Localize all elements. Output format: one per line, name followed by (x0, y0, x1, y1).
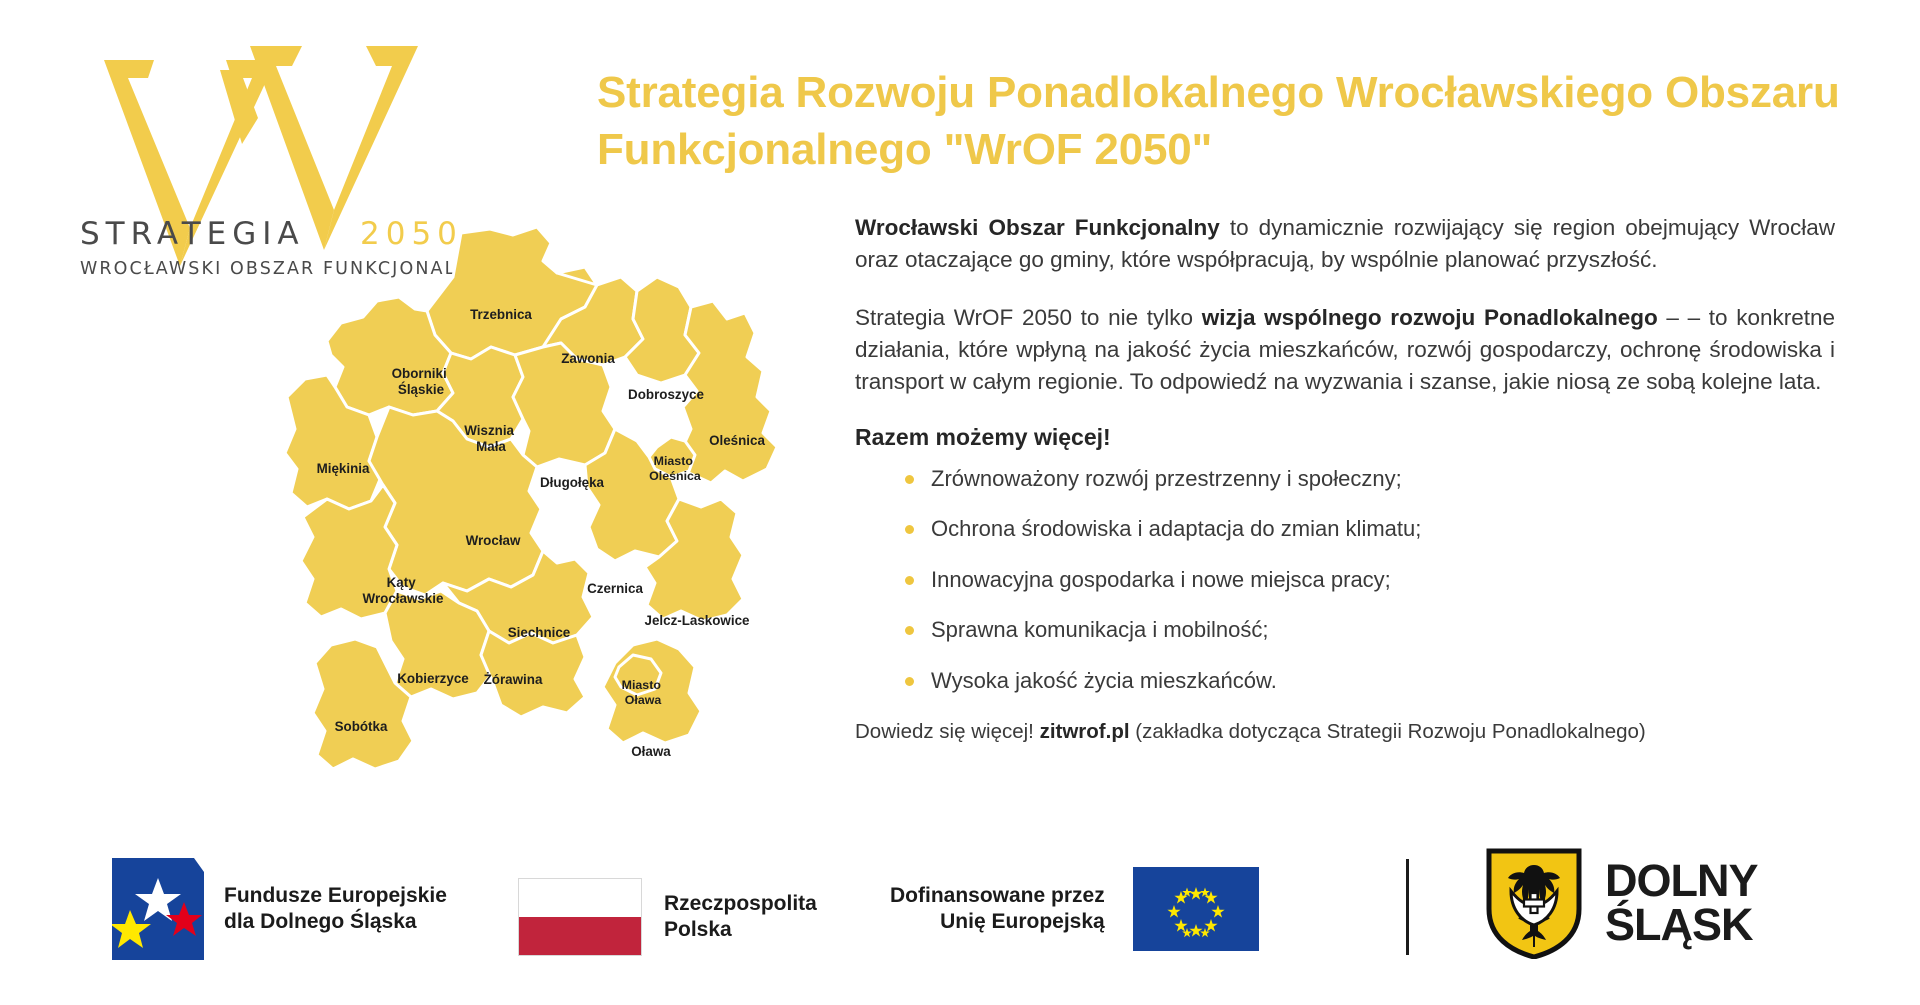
more-info-suffix: (zakładka dotycząca Strategii Rozwoju Po… (1130, 720, 1646, 743)
map-label-miasto-olawa: Miasto Oława (622, 678, 665, 707)
map-label-zorawina: Żórawina (484, 672, 543, 687)
map-label-dlugoleka: Długołęka (540, 475, 605, 490)
poland-caption: Rzeczpospolita Polska (664, 891, 817, 942)
intro-paragraph: Wrocławski Obszar Funkcjonalny to dynami… (855, 212, 1835, 276)
list-item: Innowacyjna gospodarka i nowe miejsca pr… (905, 566, 1835, 595)
european-union-flag-icon (1133, 867, 1259, 951)
map-label-oborniki-slaskie: Oborniki Śląskie (392, 366, 451, 397)
map-label-miekinia: Miękinia (317, 461, 370, 476)
map-label-miasto-olesnica: Miasto Oleśnica (649, 454, 701, 483)
polish-flag-icon (518, 878, 642, 956)
eu-cofinance-logo: Dofinansowane przez Unię Europejską (890, 867, 1259, 951)
eu-cofinance-caption: Dofinansowane przez Unię Europejską (890, 883, 1105, 934)
page-title: Strategia Rozwoju Ponadlokalnego Wrocław… (597, 65, 1897, 178)
dolny-slask-coat-of-arms-icon (1485, 847, 1583, 959)
eu-funds-caption: Fundusze Europejskie dla Dolnego Śląska (224, 883, 447, 934)
list-item: Sprawna komunikacja i mobilność; (905, 616, 1835, 645)
zitwrof-link[interactable]: zitwrof.pl (1040, 720, 1130, 743)
list-item: Wysoka jakość życia mieszkańców. (905, 667, 1835, 696)
map-label-dobroszyce: Dobroszyce (628, 387, 704, 402)
strategy-bold-phrase: wizja wspólnego rozwoju Ponadlokalnego (1202, 305, 1658, 330)
map-label-kobierzyce: Kobierzyce (397, 671, 468, 686)
benefit-list: Zrównoważony rozwój przestrzenny i społe… (855, 465, 1835, 696)
dolny-slask-caption: DOLNY ŚLĄSK (1605, 859, 1758, 946)
map-label-olawa: Oława (631, 744, 671, 759)
eu-funds-stars-icon (112, 858, 204, 960)
strategy-text-before: Strategia WrOF 2050 to nie tylko (855, 305, 1202, 330)
poland-logo: Rzeczpospolita Polska (518, 867, 817, 967)
more-info-line: Dowiedz się więcej! zitwrof.pl (zakładka… (855, 718, 1835, 746)
more-info-prefix: Dowiedz się więcej! (855, 720, 1040, 743)
wrof-municipalities-map: Trzebnica Zawonia Dobroszyce Oborniki Śl… (255, 215, 835, 795)
map-label-wroclaw: Wrocław (466, 533, 521, 548)
dolny-slask-logo: DOLNY ŚLĄSK (1485, 853, 1758, 953)
map-label-trzebnica: Trzebnica (470, 307, 532, 322)
map-label-jelcz-laskowice: Jelcz-Laskowice (645, 613, 750, 628)
map-label-zawonia: Zawonia (561, 351, 615, 366)
call-to-action-heading: Razem możemy więcej! (855, 424, 1835, 451)
list-item: Ochrona środowiska i adaptacja do zmian … (905, 515, 1835, 544)
content-column: Wrocławski Obszar Funkcjonalny to dynami… (855, 212, 1835, 745)
footer-divider (1406, 859, 1409, 955)
footer-bar: Fundusze Europejskie dla Dolnego Śląska … (0, 845, 1920, 985)
map-label-czernica: Czernica (587, 581, 643, 596)
map-label-olesnica: Oleśnica (709, 433, 765, 448)
map-svg: Trzebnica Zawonia Dobroszyce Oborniki Śl… (255, 215, 835, 795)
map-label-siechnice: Siechnice (508, 625, 571, 640)
intro-bold-lead: Wrocławski Obszar Funkcjonalny (855, 215, 1220, 240)
strategy-paragraph: Strategia WrOF 2050 to nie tylko wizja w… (855, 302, 1835, 398)
eu-funds-logo: Fundusze Europejskie dla Dolnego Śląska (112, 859, 447, 959)
list-item: Zrównoważony rozwój przestrzenny i społe… (905, 465, 1835, 494)
map-label-sobotka: Sobótka (335, 719, 388, 734)
